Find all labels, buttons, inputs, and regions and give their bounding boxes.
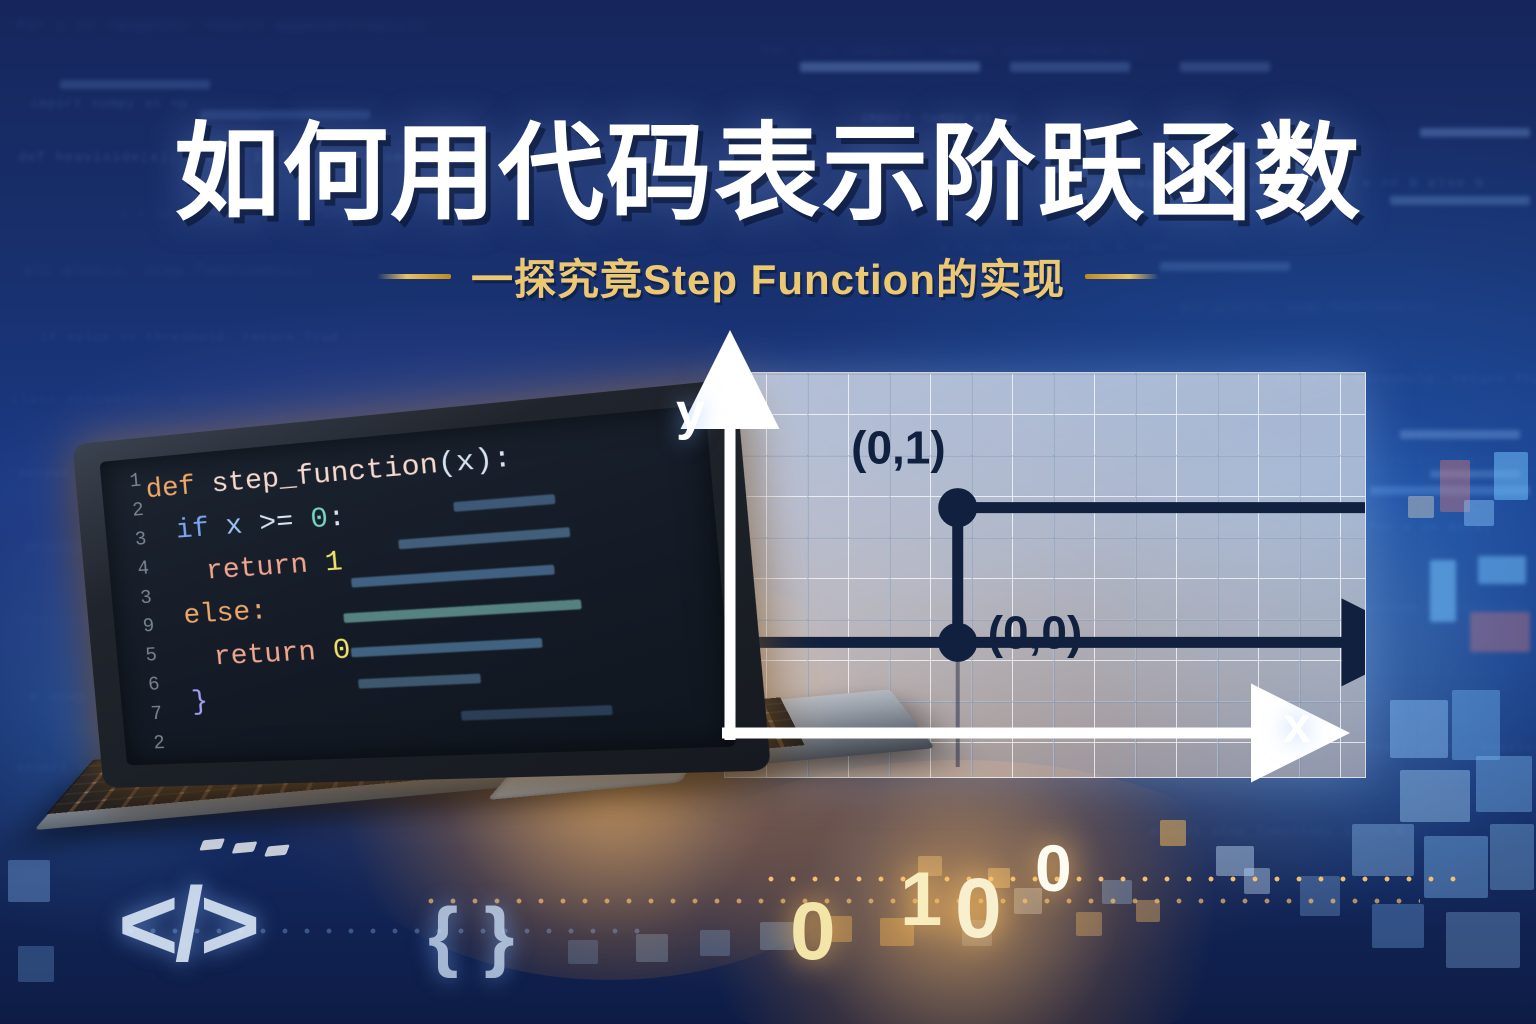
code-token: def bbox=[145, 470, 213, 506]
pixel-block bbox=[636, 934, 668, 962]
laptop: 12343956722117 def step_function(x):if x… bbox=[64, 373, 903, 914]
pixel-block bbox=[1216, 846, 1254, 876]
background-bar bbox=[1470, 612, 1530, 652]
background-code-line: for i in range(n): result.append(step(i)… bbox=[760, 44, 1145, 60]
code-line-number: 6 bbox=[125, 670, 161, 701]
pixel-block bbox=[1494, 452, 1528, 500]
code-token: : bbox=[327, 503, 347, 536]
code-token: else: bbox=[182, 597, 268, 633]
code-line-number: 3 bbox=[111, 525, 147, 557]
code-line-number: 2 bbox=[109, 495, 145, 527]
background-code-line: assert step_function(-1) == 0 bbox=[1150, 824, 1405, 839]
chart-point-marker bbox=[942, 492, 974, 524]
code-token: } bbox=[190, 687, 209, 718]
code-token: (x): bbox=[436, 443, 513, 482]
dotted-scan-row bbox=[760, 876, 1460, 882]
laptop-screen: 12343956722117 def step_function(x):if x… bbox=[99, 405, 736, 766]
background-bar bbox=[1180, 62, 1270, 72]
code-line-number: 1 bbox=[106, 466, 142, 498]
background-bar bbox=[1010, 62, 1130, 72]
code-line-number: 7 bbox=[127, 700, 163, 730]
code-token: 1 bbox=[324, 547, 344, 580]
pixel-block bbox=[1300, 876, 1340, 916]
code-line-number: 4 bbox=[114, 554, 150, 585]
code-tag-icon: </> bbox=[118, 866, 256, 985]
pixel-block bbox=[1372, 904, 1424, 948]
code-line-number: 2 bbox=[132, 758, 168, 766]
pixel-block bbox=[8, 860, 50, 902]
title-block: 如何用代码表示阶跃函数 一探究竟Step Function的实现 bbox=[0, 118, 1536, 307]
laptop-port bbox=[199, 838, 225, 850]
background-bar bbox=[1370, 486, 1530, 495]
pixel-block bbox=[1244, 868, 1270, 894]
background-bar bbox=[1430, 560, 1456, 622]
background-code-line: if value >= threshold: return True bbox=[40, 330, 339, 345]
subtitle-dash-right bbox=[1085, 274, 1159, 279]
pixel-block bbox=[1400, 770, 1470, 822]
binary-digit: 0 bbox=[955, 860, 1002, 957]
background-bar bbox=[1400, 430, 1520, 439]
background-code-line: for i in range(n): result.append(step(i)… bbox=[16, 18, 426, 35]
code-line-number: 9 bbox=[119, 612, 155, 643]
chart-annotation: (0,0) bbox=[988, 606, 1083, 658]
pixel-block bbox=[18, 946, 54, 982]
binary-digit: 1 bbox=[900, 856, 942, 943]
background-code-line: class Activation: pass bbox=[10, 392, 217, 408]
binary-digit: 0 bbox=[790, 885, 836, 979]
chart-y-axis-label: y bbox=[676, 382, 705, 442]
poster-canvas: for i in range(n): result.append(step(i)… bbox=[0, 0, 1536, 1024]
chart-point-marker bbox=[942, 626, 974, 658]
code-token: if bbox=[175, 512, 227, 547]
background-bar bbox=[1430, 470, 1520, 478]
laptop-lid: 12343956722117 def step_function(x):if x… bbox=[72, 379, 771, 788]
pixel-block bbox=[1490, 824, 1534, 890]
laptop-port bbox=[264, 844, 290, 856]
pixel-block bbox=[1076, 912, 1102, 936]
pixel-block bbox=[1352, 824, 1414, 876]
pixel-block bbox=[1452, 690, 1500, 760]
binary-digit: 0 bbox=[1035, 830, 1072, 906]
code-token: 0 bbox=[332, 636, 352, 668]
code-token: return bbox=[213, 637, 335, 674]
pixel-block bbox=[1160, 820, 1186, 846]
pixel-block bbox=[700, 930, 730, 956]
code-token: x bbox=[224, 510, 260, 544]
pixel-block bbox=[1440, 460, 1470, 512]
pixel-block bbox=[1136, 900, 1160, 922]
background-bar bbox=[800, 62, 980, 72]
background-code-line: # step / unit / heaviside bbox=[1340, 740, 1536, 755]
page-subtitle: 一探究竟Step Function的实现 bbox=[471, 246, 1065, 307]
pixel-block bbox=[1390, 700, 1448, 758]
subtitle-dash-left bbox=[377, 274, 451, 279]
code-line-number: 3 bbox=[117, 583, 153, 614]
pixel-block bbox=[1408, 496, 1434, 518]
code-line-number: 5 bbox=[122, 641, 158, 672]
page-title: 如何用代码表示阶跃函数 bbox=[0, 118, 1536, 230]
pixel-block bbox=[760, 922, 794, 950]
background-bar bbox=[60, 80, 210, 89]
pixel-block bbox=[1476, 756, 1532, 812]
laptop-port bbox=[232, 841, 258, 853]
code-line-number: 2 bbox=[130, 729, 166, 759]
subtitle-row: 一探究竟Step Function的实现 bbox=[0, 246, 1536, 307]
pixel-block bbox=[1446, 912, 1520, 968]
curly-brace-icon: { } bbox=[428, 890, 516, 981]
pixel-block bbox=[1102, 880, 1132, 904]
background-code-line: import numpy as np bbox=[30, 96, 188, 111]
chart-x-axis-label: x bbox=[1283, 696, 1311, 754]
pixel-block bbox=[568, 940, 598, 964]
code-token: >= bbox=[258, 505, 312, 540]
pixel-block bbox=[1464, 500, 1494, 526]
pixel-block bbox=[1424, 836, 1488, 898]
code-token: return bbox=[205, 549, 327, 588]
background-bar bbox=[1478, 556, 1526, 584]
